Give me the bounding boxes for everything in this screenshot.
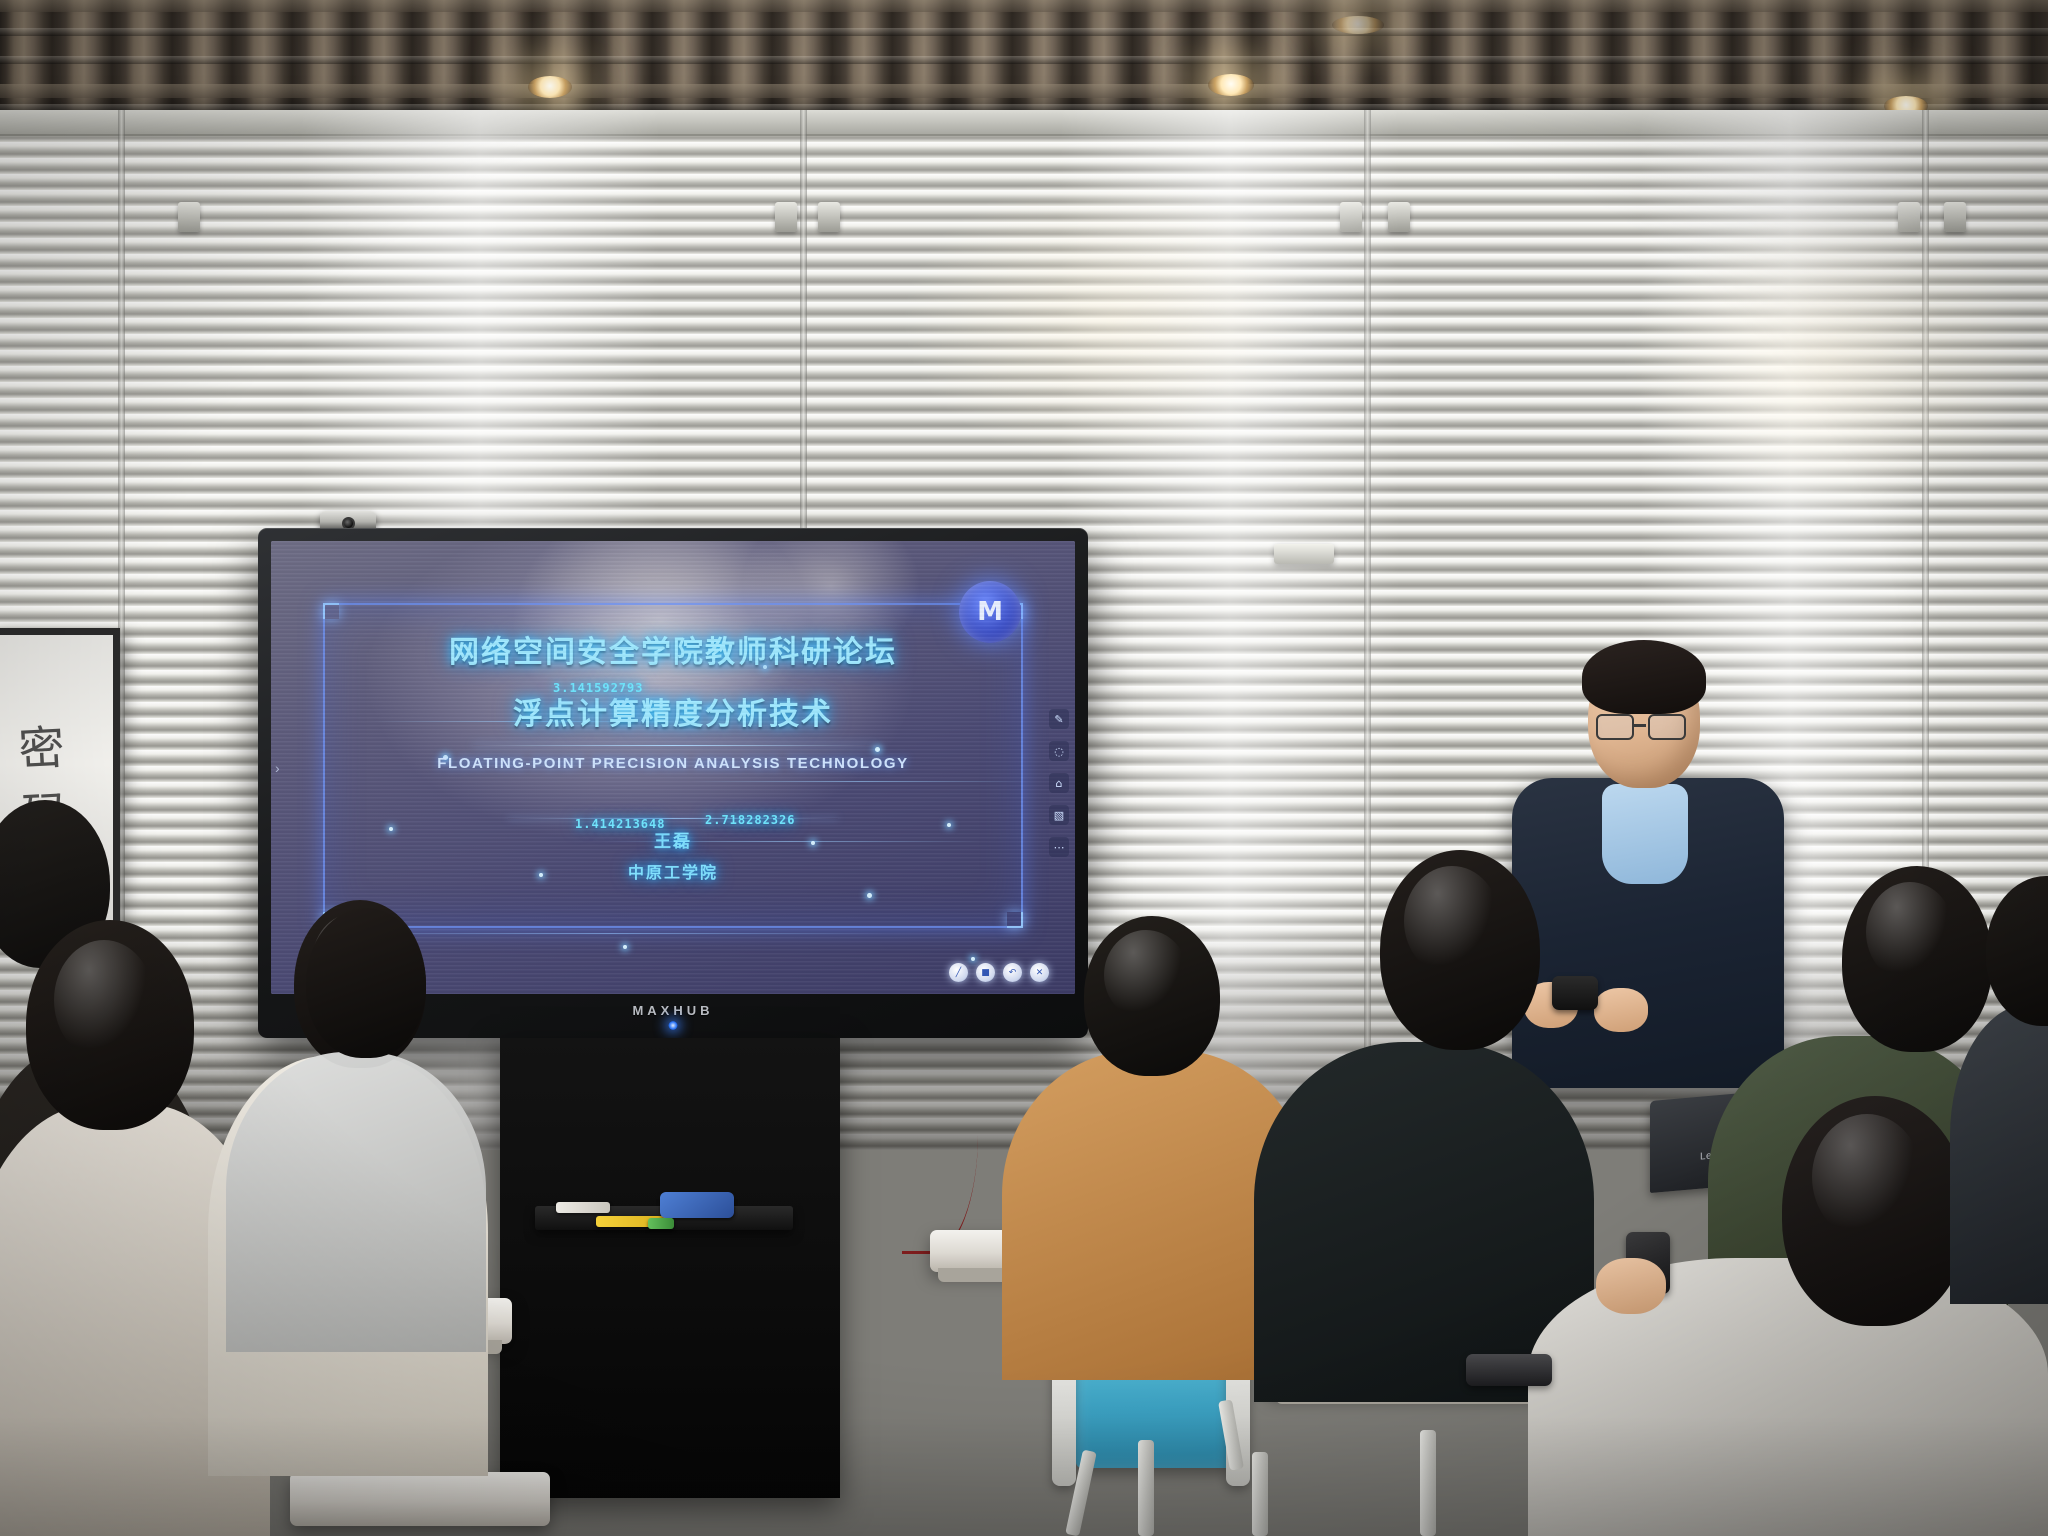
- ceiling-downlight-1: [528, 76, 572, 98]
- slide-organization: 中原工学院: [628, 859, 718, 883]
- presenter-hair: [1582, 640, 1706, 714]
- sqrt2-constant-label: 1.414213648: [575, 817, 665, 831]
- desk-device[interactable]: [1466, 1354, 1552, 1386]
- slide-title-cn-line1: 网络空间安全学院教师科研论坛: [449, 627, 897, 671]
- pi-constant-label: 3.141592793: [553, 681, 643, 695]
- presenter-hand-right: [1594, 988, 1648, 1032]
- slide-title-cn-line2: 浮点计算精度分析技术: [513, 689, 833, 733]
- power-led-icon: [669, 1021, 678, 1030]
- side-tool-lasso[interactable]: ◌: [1049, 741, 1069, 761]
- glasses-right-lens-icon: [1648, 714, 1686, 740]
- close-icon[interactable]: ✕: [1030, 963, 1049, 982]
- slide-title-en: FLOATING-POINT PRECISION ANALYSIS TECHNO…: [437, 755, 909, 772]
- ceiling-downlight-4: [1332, 16, 1384, 34]
- slide-bottom-toolbar[interactable]: ╱ ■ ↶ ✕: [949, 963, 1049, 982]
- classroom-scene: 密码 子计算: [0, 0, 2048, 1536]
- presenter-clicker[interactable]: [1552, 976, 1598, 1010]
- power-cable: [902, 1054, 978, 1254]
- highlight-icon[interactable]: ■: [976, 963, 995, 982]
- side-tool-more[interactable]: ⋯: [1049, 837, 1069, 857]
- student-hand: [1596, 1258, 1666, 1314]
- side-tool-pen[interactable]: ✎: [1049, 709, 1069, 729]
- presenter-shirt: [1602, 784, 1688, 884]
- ceiling-panel: [0, 0, 2048, 118]
- wall-vent: [1274, 544, 1334, 564]
- slide-divider-1: [473, 745, 873, 746]
- pen-icon[interactable]: ╱: [949, 963, 968, 982]
- ceiling-downlight-2: [1208, 74, 1254, 96]
- undo-icon[interactable]: ↶: [1003, 963, 1022, 982]
- glasses-left-lens-icon: [1596, 714, 1634, 740]
- marker-white: [556, 1202, 610, 1213]
- desk-left-2: [290, 1472, 550, 1526]
- marker-green: [648, 1218, 674, 1229]
- marker-blue-cloth: [660, 1192, 734, 1218]
- screen-prev-arrow-icon[interactable]: ›: [275, 760, 280, 776]
- e-constant-label: 2.718282326: [705, 813, 795, 827]
- side-tool-home[interactable]: ⌂: [1049, 773, 1069, 793]
- side-tool-eraser[interactable]: ▧: [1049, 805, 1069, 825]
- display-stand-column: [500, 1038, 840, 1498]
